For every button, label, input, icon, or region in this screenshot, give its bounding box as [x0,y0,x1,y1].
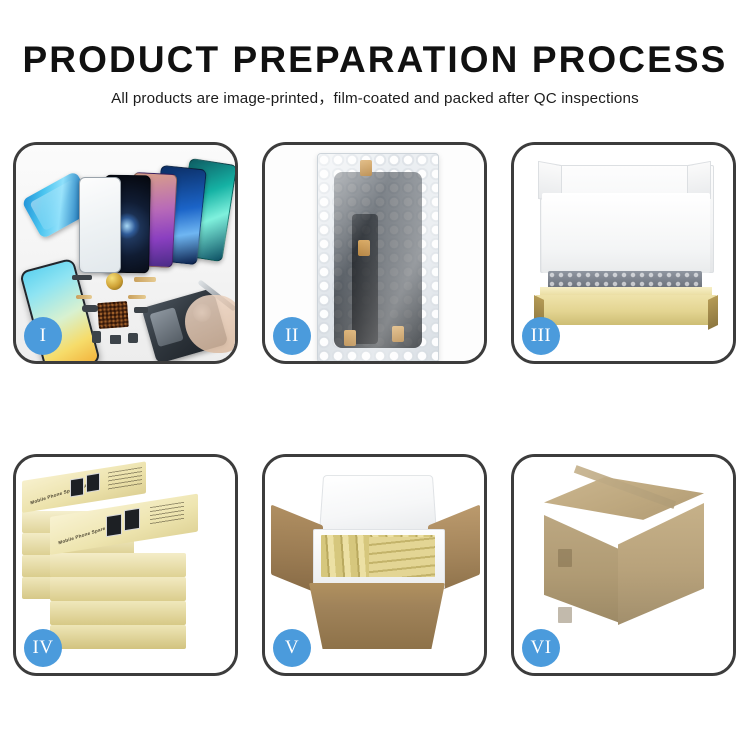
step-badge: I [24,317,62,355]
process-step-card-6[interactable]: VI [511,454,736,676]
step-badge: IV [24,629,62,667]
box-spec-text-block-back [108,467,142,490]
retail-box-front-4 [50,601,186,625]
retail-box-front-3 [50,577,186,601]
page-header: PRODUCT PREPARATION PROCESS All products… [0,38,750,109]
carton-seam-lower-icon [558,607,572,623]
process-step-card-1[interactable]: I [13,142,238,364]
speaker-part-icon [110,335,121,344]
bubble-wrap-bag-icon [317,153,439,361]
wrapped-screen-assembly-icon [334,172,422,348]
process-step-card-3[interactable]: III [511,142,736,364]
camera-module-part-icon [82,305,98,312]
step-badge: III [522,317,560,355]
carton-seam-upper-icon [558,549,572,567]
box-spec-text-block-front [150,502,184,525]
step-badge: VI [522,629,560,667]
tape-tab-lower-right-icon [392,326,404,342]
process-step-card-5[interactable]: V [262,454,487,676]
flex-cable-1-icon [134,277,156,282]
box-art-thumb-d [124,508,140,532]
flex-cable-2-icon [128,295,146,299]
tape-tab-lower-left-icon [344,330,356,346]
process-step-card-2[interactable]: II [262,142,487,364]
carton-body-icon [309,583,445,649]
product-preparation-process-page: PRODUCT PREPARATION PROCESS All products… [0,0,750,750]
phone-glass-panel-icon [79,177,121,273]
foam-cooler-lid-icon [319,475,438,537]
box-art-thumb-a [70,477,84,497]
flex-cable-bundle-icon [352,214,378,344]
foam-sheet-icon [542,193,710,273]
button-part-icon [128,333,138,343]
sensor-part-icon [134,307,148,313]
packed-retail-boxes-secondary-icon [369,537,435,577]
page-title: PRODUCT PREPARATION PROCESS [0,38,750,82]
kraft-box-body-icon [536,295,716,325]
chip-array-icon [97,301,129,329]
flex-cable-3-icon [76,295,92,299]
retail-box-front-2 [50,553,186,577]
page-subtitle: All products are image-printed，film-coat… [0,89,750,109]
retail-box-front-5 [50,625,186,649]
box-art-thumb-c [106,514,122,538]
tape-tab-top-icon [360,160,372,176]
vibration-motor-icon [106,273,123,290]
tape-tab-mid-icon [358,240,370,256]
battery-connector-part-icon [72,275,92,280]
process-step-card-4[interactable]: Mobile Phone Spare Parts Mobile Phone Sp… [13,454,238,676]
sim-tray-part-icon [92,331,101,343]
step-badge: II [273,317,311,355]
process-step-grid: I II [13,142,737,676]
step-badge: V [273,629,311,667]
box-art-thumb-b [86,473,100,493]
